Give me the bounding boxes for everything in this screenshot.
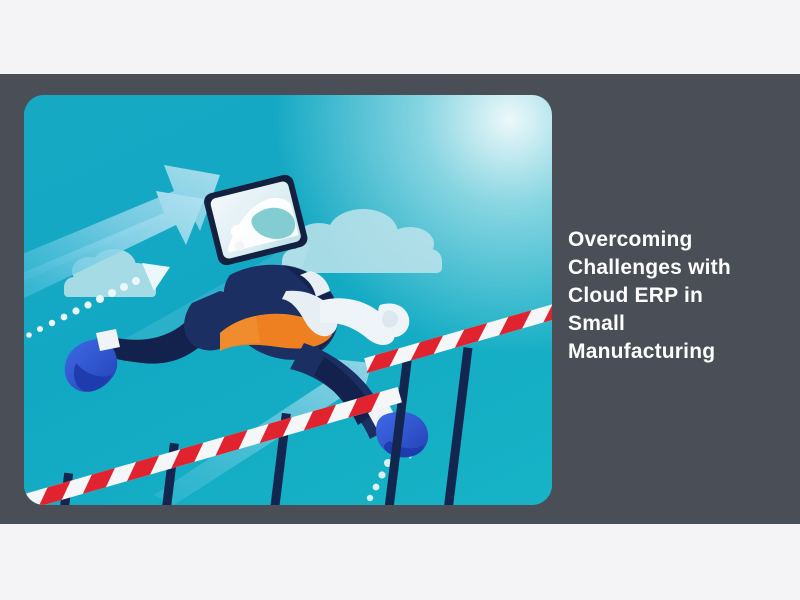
title-line-1: Overcoming	[568, 226, 768, 254]
article-hero-image[interactable]	[24, 95, 552, 505]
title-line-2: Challenges with	[568, 254, 768, 282]
hurdle-bar-front-icon	[24, 387, 402, 505]
title-line-3: Cloud ERP in	[568, 282, 768, 310]
title-line-4: Small	[568, 310, 768, 338]
illustration-vector-layer	[24, 95, 552, 505]
article-title: Overcoming Challenges with Cloud ERP in …	[568, 226, 768, 366]
page-canvas: Overcoming Challenges with Cloud ERP in …	[0, 0, 800, 600]
illustration-canvas	[24, 95, 552, 505]
title-line-5: Manufacturing	[568, 338, 768, 366]
